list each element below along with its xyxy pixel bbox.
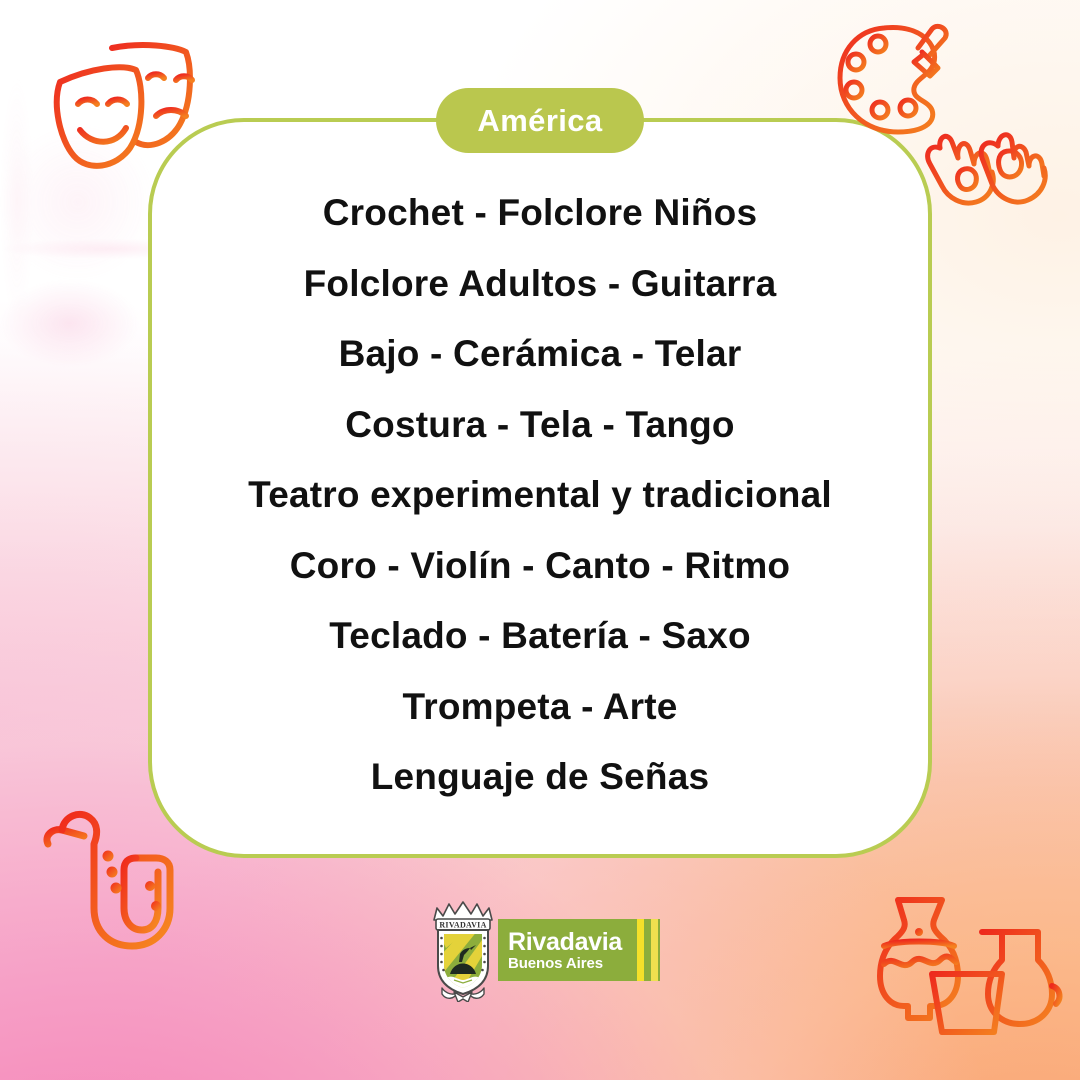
- logo-accent-bar: [651, 919, 658, 981]
- activity-line: Teatro experimental y tradicional: [150, 460, 930, 531]
- region-badge-label: América: [477, 103, 602, 139]
- logo-accent-bar: [637, 919, 644, 981]
- theater-masks-icon: [38, 30, 218, 180]
- activity-list: Crochet - Folclore Niños Folclore Adulto…: [150, 178, 930, 813]
- region-badge: América: [436, 88, 644, 153]
- poster-canvas: América Crochet - Folclore Niños Folclor…: [0, 0, 1080, 1080]
- svg-text:RIVADAVIA: RIVADAVIA: [439, 921, 486, 930]
- activity-line: Teclado - Batería - Saxo: [150, 601, 930, 672]
- coat-of-arms-icon: RIVADAVIA: [424, 898, 502, 1002]
- activity-line: Lenguaje de Señas: [150, 742, 930, 813]
- saxophone-icon: [24, 800, 214, 960]
- activity-line: Bajo - Cerámica - Telar: [150, 319, 930, 390]
- activity-line: Coro - Violín - Canto - Ritmo: [150, 531, 930, 602]
- logo-text-block: Rivadavia Buenos Aires: [498, 919, 660, 981]
- activity-line: Folclore Adultos - Guitarra: [150, 249, 930, 320]
- activity-line: Crochet - Folclore Niños: [150, 178, 930, 249]
- municipality-logo: RIVADAVIA: [424, 898, 664, 1002]
- pottery-icon: [868, 890, 1064, 1042]
- activity-line: Trompeta - Arte: [150, 672, 930, 743]
- activity-line: Costura - Tela - Tango: [150, 390, 930, 461]
